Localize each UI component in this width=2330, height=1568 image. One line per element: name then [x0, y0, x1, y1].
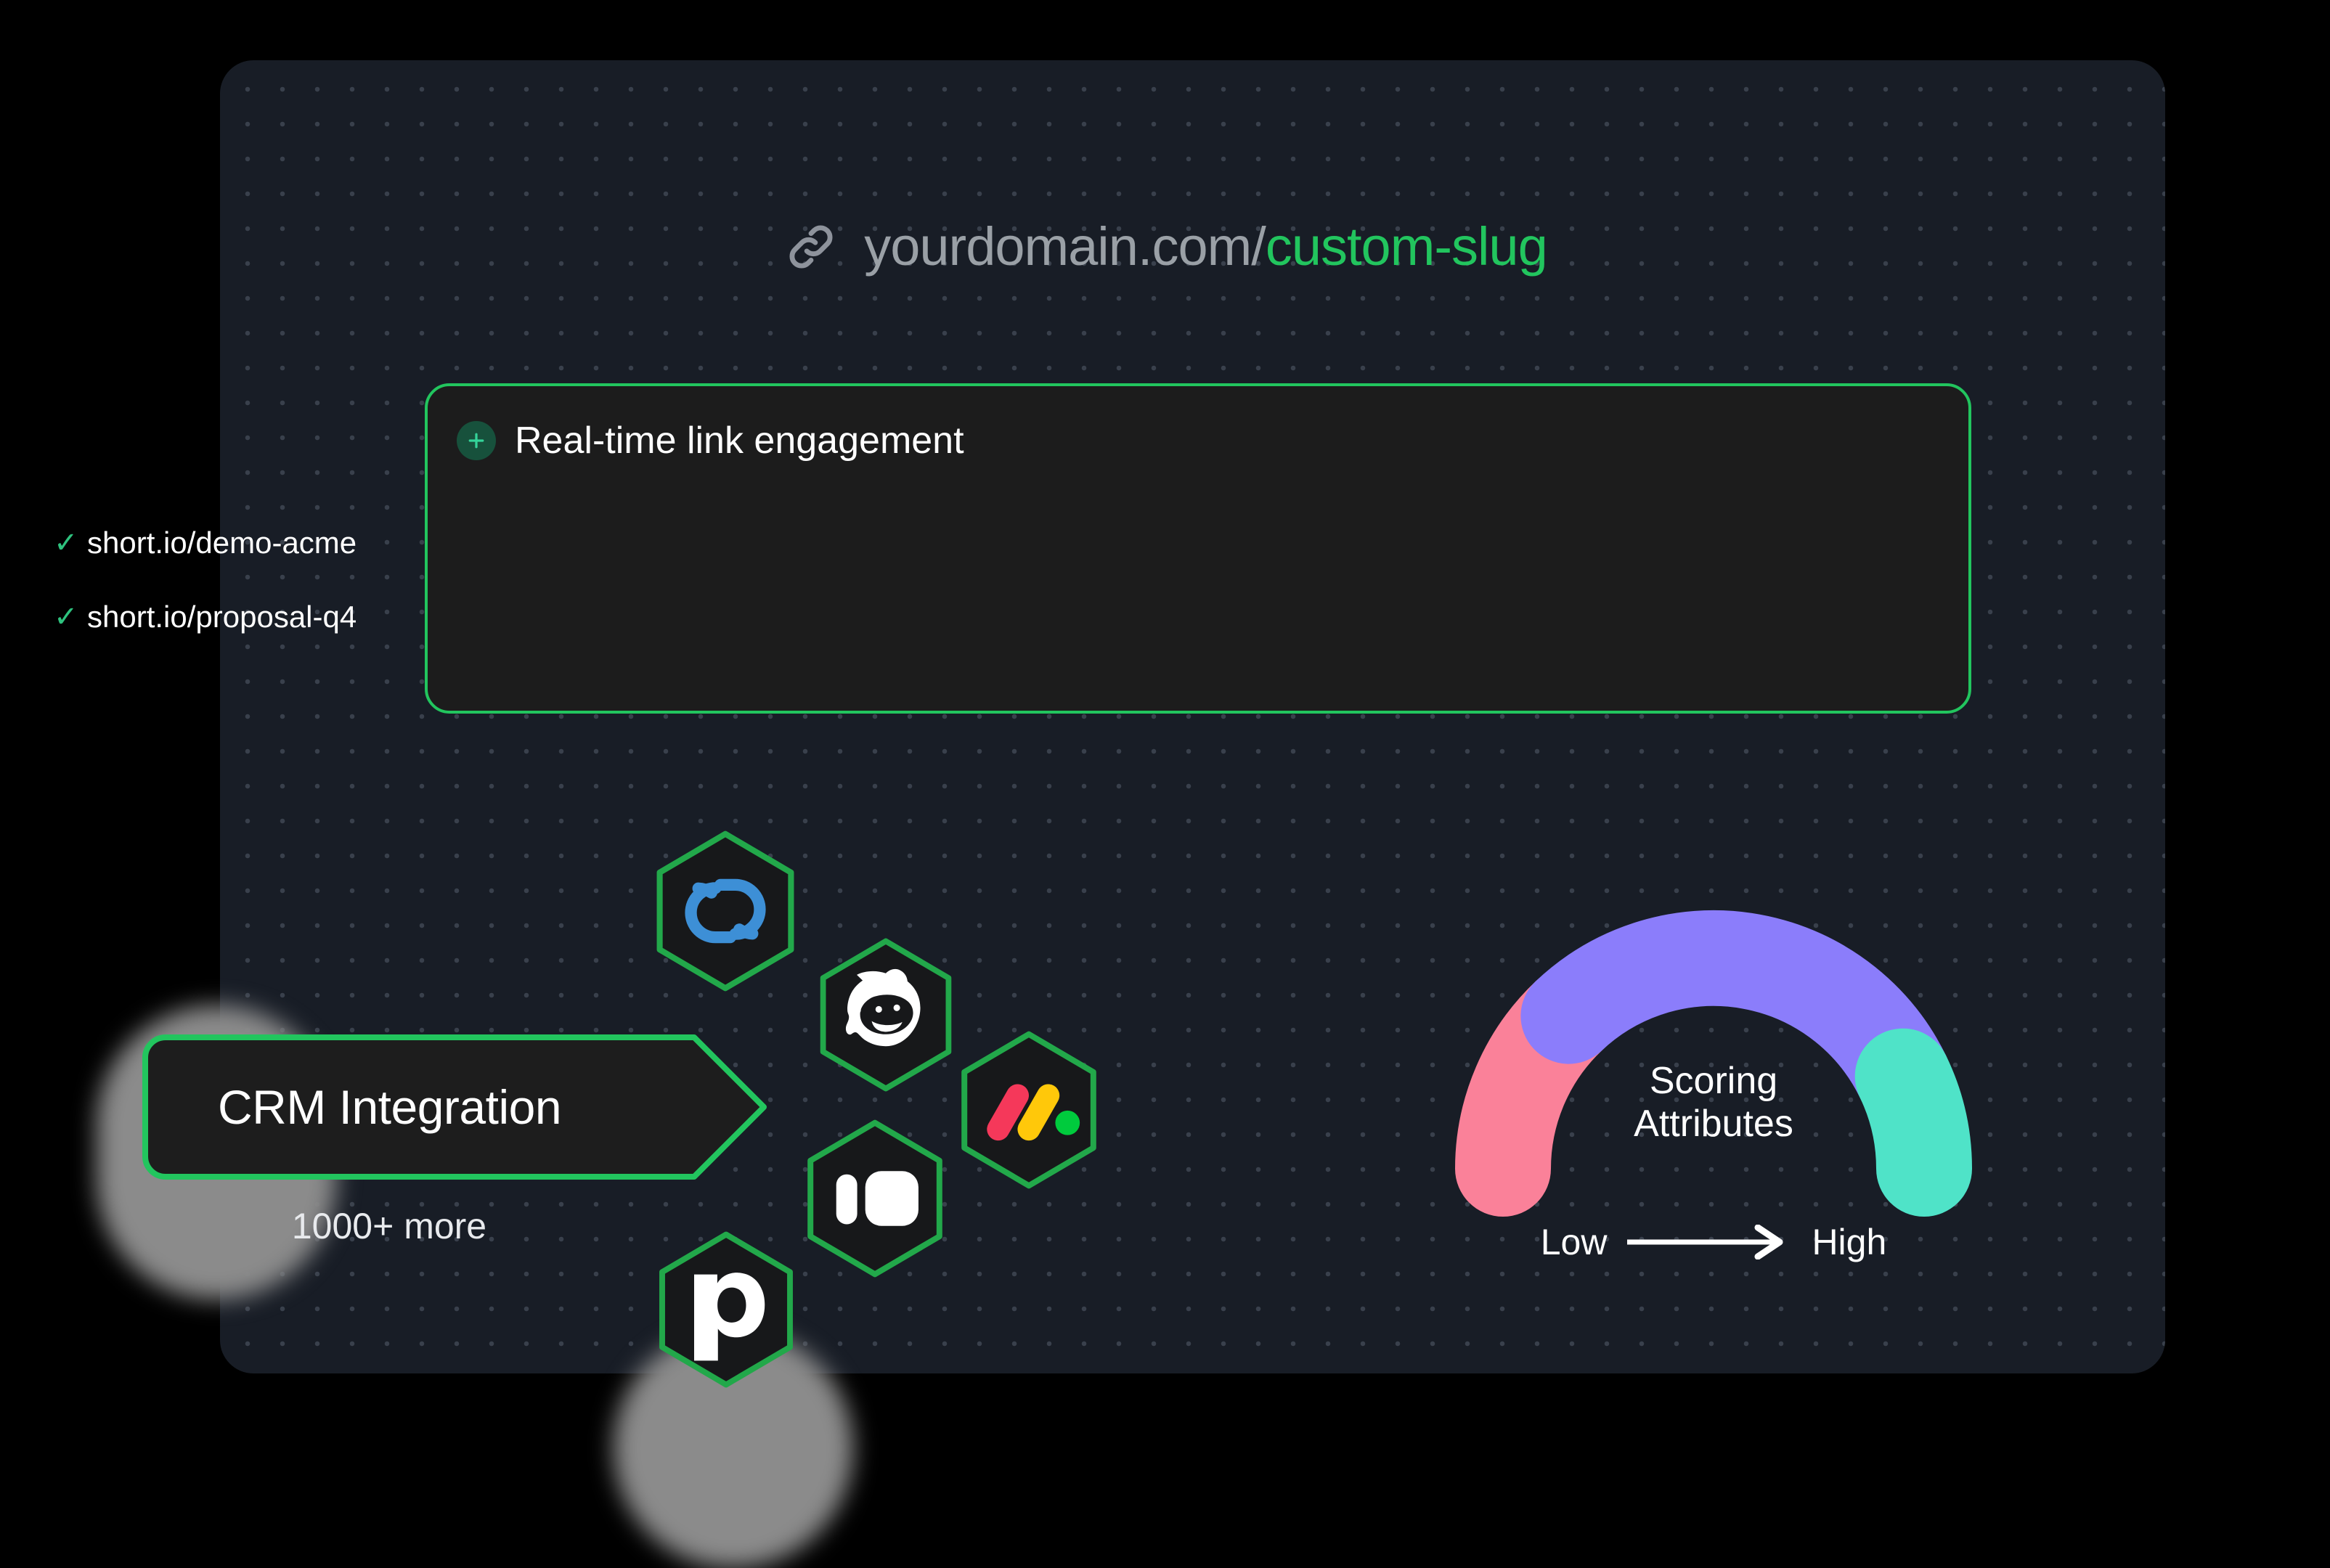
- gauge-scale: Low High: [1423, 1211, 2004, 1273]
- short-link[interactable]: short.io/proposal-q4: [87, 600, 465, 634]
- link-icon: [783, 219, 839, 275]
- card-header: Real-time link engagement: [457, 421, 964, 460]
- plus-icon[interactable]: [457, 421, 496, 460]
- integration-hex-pipedrive[interactable]: [646, 1230, 806, 1389]
- integration-hex-zoho[interactable]: [643, 829, 807, 993]
- intercom-icon: [836, 1171, 918, 1225]
- arrow-right-icon: [1626, 1225, 1793, 1259]
- card-title: Real-time link engagement: [515, 422, 964, 460]
- gauge-high-label: High: [1812, 1221, 1886, 1263]
- url-domain: yourdomain.com/: [864, 216, 1266, 277]
- hex-outline: [662, 1235, 790, 1385]
- hex-outline: [660, 834, 791, 988]
- url-text: yourdomain.com/custom-slug: [864, 220, 1547, 274]
- gauge-low-label: Low: [1541, 1221, 1608, 1263]
- check-icon: ✓: [54, 526, 87, 560]
- custom-domain-url[interactable]: yourdomain.com/custom-slug: [0, 203, 2330, 290]
- integration-hex-monday[interactable]: [948, 1029, 1109, 1191]
- gauge-caption: Scoring Attributes: [1423, 1060, 2004, 1146]
- gauge-caption-line2: Attributes: [1423, 1103, 2004, 1146]
- check-icon: ✓: [54, 600, 87, 634]
- short-link[interactable]: short.io/demo-acme: [87, 526, 465, 560]
- realtime-engagement-card: Real-time link engagement: [425, 383, 1971, 714]
- gauge-segment-mid: [1568, 958, 1902, 1077]
- crm-integration-label: CRM Integration: [142, 1034, 767, 1180]
- gauge-caption-line1: Scoring: [1423, 1060, 2004, 1103]
- integration-hex-mailchimp[interactable]: [807, 936, 964, 1093]
- integration-hex-intercom[interactable]: [794, 1118, 956, 1279]
- more-integrations-label: 1000+ more: [142, 1205, 767, 1247]
- url-slug: custom-slug: [1266, 216, 1547, 277]
